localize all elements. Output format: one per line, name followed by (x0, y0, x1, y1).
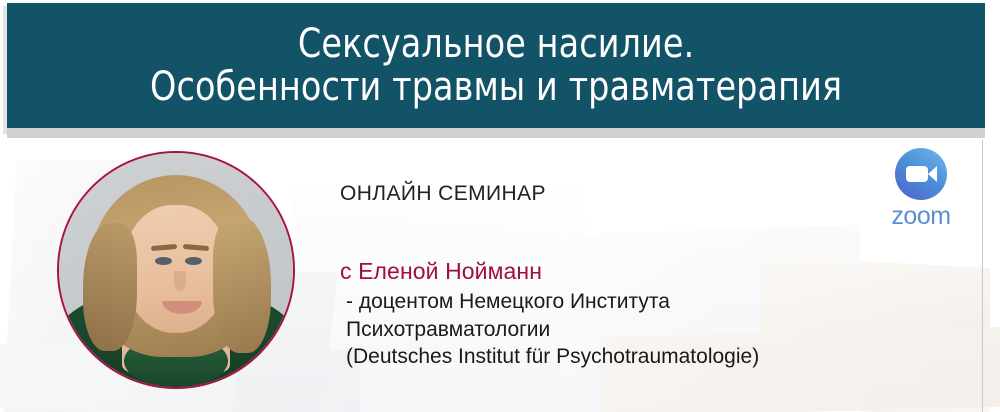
portrait-eye-left (155, 257, 172, 265)
speaker-portrait (57, 151, 295, 389)
right-edge-rule (982, 140, 983, 412)
portrait-hair-strand-left (83, 223, 137, 351)
portrait-nose (174, 271, 186, 291)
portrait-hair-strand-right (213, 217, 271, 353)
video-camera-lens (928, 166, 937, 182)
seminar-poster: Сексуальное насилие. Особенности травмы … (0, 0, 1000, 412)
portrait-eye-right (185, 257, 202, 265)
seminar-details: ОНЛАЙН СЕМИНАР с Еленой Нойманн - доцент… (340, 182, 910, 371)
banner-area: Сексуальное насилие. Особенности травмы … (0, 0, 1000, 140)
presenter-role-line-2: Психотравматологии (346, 316, 910, 344)
video-camera-icon (895, 148, 947, 200)
zoom-wordmark: zoom (872, 204, 970, 229)
video-camera-body (906, 166, 928, 182)
title-banner: Сексуальное насилие. Особенности травмы … (7, 3, 985, 128)
zoom-logo: zoom (872, 148, 970, 229)
presenter-name: с Еленой Нойманн (340, 206, 910, 285)
event-type-label: ОНЛАЙН СЕМИНАР (340, 182, 910, 206)
page-title-line-1: Сексуальное насилие. (298, 23, 694, 66)
presenter-role: - доцентом Немецкого Института Психотрав… (340, 285, 910, 371)
page-title-line-2: Особенности травмы и травматерапия (150, 66, 842, 109)
presenter-role-line-3: (Deutsches Institut für Psychotraumatolo… (346, 343, 910, 371)
presenter-role-line-1: - доцентом Немецкого Института (346, 288, 910, 316)
banner-bottom-shadow (7, 128, 985, 138)
